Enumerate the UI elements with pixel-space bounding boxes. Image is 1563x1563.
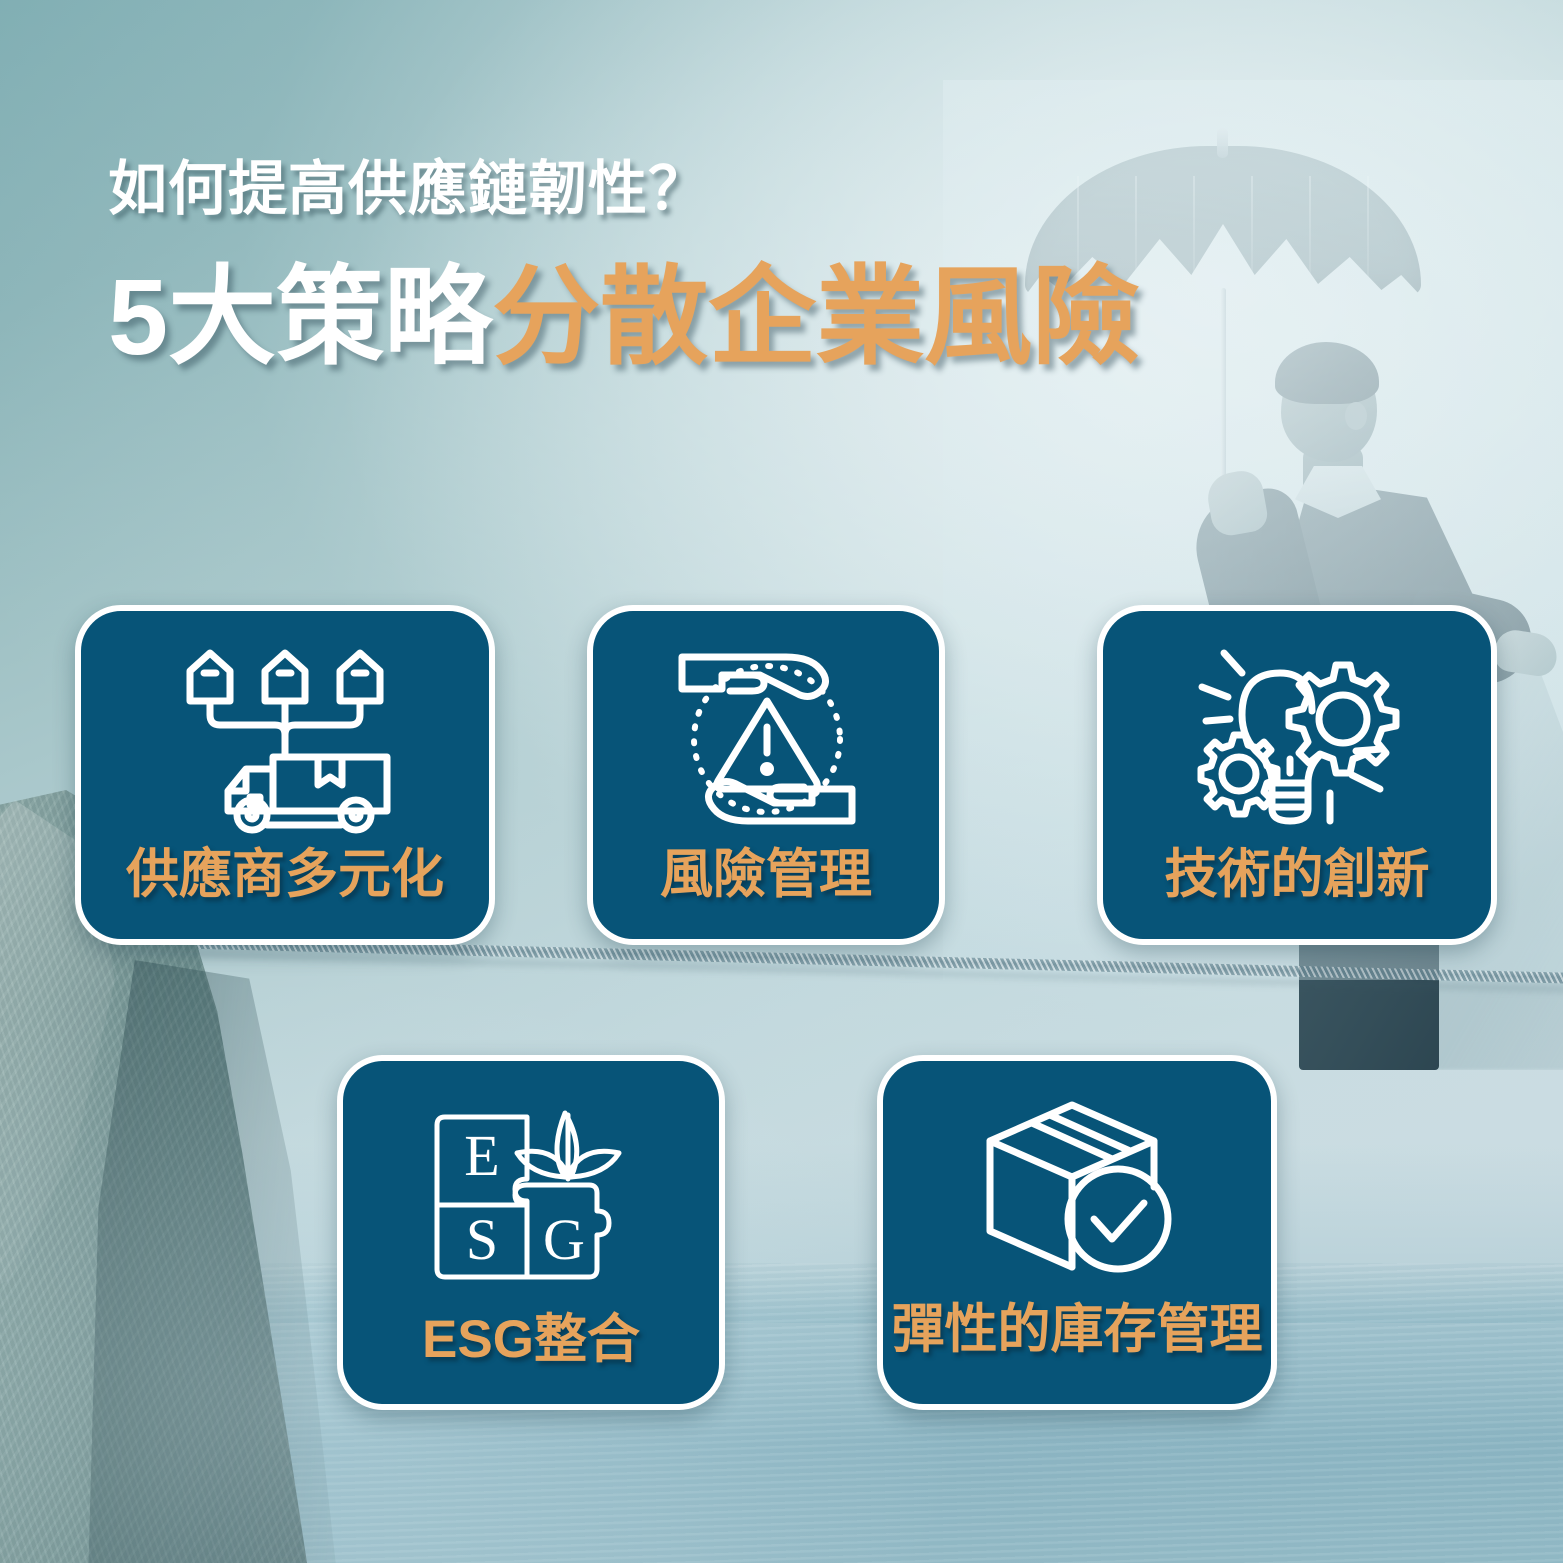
hands-warning-triangle-icon — [664, 639, 869, 839]
card-risk-management[interactable]: 風險管理 — [587, 605, 945, 945]
hair — [1275, 342, 1379, 404]
neck — [1303, 446, 1363, 500]
poster-subtitle: 如何提高供應鏈韌性？ — [108, 160, 1140, 219]
tightrope-shadow — [120, 950, 1563, 996]
title-accent-part: 分散企業風險 — [492, 256, 1140, 377]
esg-puzzle-leaf-icon: E S G — [419, 1091, 644, 1296]
shirt-collar — [1295, 466, 1381, 518]
umbrella-shaft — [1221, 288, 1226, 492]
delivery-truck-network-icon — [168, 639, 403, 839]
card-supplier-diversification[interactable]: 供應商多元化 — [75, 605, 495, 945]
card-esg-integration[interactable]: E S G ESG整合 — [337, 1055, 725, 1410]
esg-letter-g: G — [543, 1207, 585, 1272]
card-label: 彈性的庫存管理 — [892, 1302, 1263, 1358]
head — [1281, 350, 1377, 462]
ear — [1345, 402, 1367, 430]
page-title: 5大策略分散企業風險 — [108, 263, 1140, 371]
outstretched-hand — [1492, 627, 1560, 678]
card-label: 技術的創新 — [1165, 847, 1430, 903]
heading-block: 如何提高供應鏈韌性？ 5大策略分散企業風險 — [108, 160, 1140, 371]
esg-letter-s: S — [465, 1207, 497, 1272]
esg-letter-e: E — [464, 1123, 499, 1188]
lightbulb-gears-icon — [1190, 639, 1405, 839]
card-technology-innovation[interactable]: 技術的創新 — [1097, 605, 1497, 945]
sea — [0, 1263, 1563, 1563]
box-check-icon — [970, 1091, 1185, 1286]
card-flexible-inventory[interactable]: 彈性的庫存管理 — [877, 1055, 1277, 1410]
card-label: 供應商多元化 — [126, 847, 444, 903]
title-white-part: 5大策略 — [108, 256, 492, 377]
rock-cliff-shadow — [88, 960, 348, 1563]
distant-sea — [0, 1143, 1563, 1323]
umbrella-tip — [1217, 128, 1228, 158]
card-label: 風險管理 — [660, 847, 872, 903]
card-label: ESG整合 — [422, 1312, 640, 1368]
gripping-hand — [1204, 468, 1270, 539]
infographic-poster: 如何提高供應鏈韌性？ 5大策略分散企業風險 — [0, 0, 1563, 1563]
